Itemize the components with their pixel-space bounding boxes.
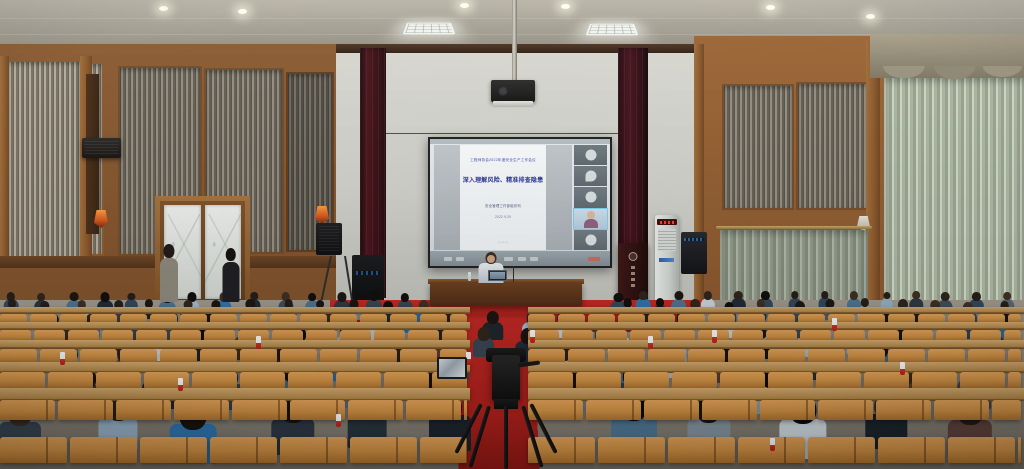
ceiling-downlight [159,6,168,11]
bench-seat [140,437,207,463]
bench-seat [720,372,765,388]
bench-seat [400,349,437,362]
water-bottle [712,330,717,343]
avatar [585,192,596,203]
bench-seat [232,400,287,420]
bench-seat [528,349,565,362]
audience-head [912,291,920,299]
bench-seat [928,349,965,362]
bench-seat [350,437,417,463]
bench-seat [58,400,113,420]
audience-head [128,293,135,301]
bench-seat [384,372,429,388]
water-bottle [60,352,65,365]
bench-seat [464,400,467,420]
bench-seat [0,437,67,463]
ac-grille [658,229,676,251]
participant-tile-strip[interactable] [574,145,607,250]
bench-seat [192,372,237,388]
audience-head [791,291,798,299]
ceiling-grid-light [403,23,456,35]
video-camera [492,355,520,401]
bench-seat [598,437,665,463]
bench-seat [116,400,171,420]
bench-seat [120,349,157,362]
bench-seat [174,400,229,420]
bench-seat [672,372,717,388]
bench-seat [1018,437,1021,463]
bench-seat [280,349,317,362]
water-bottle [336,414,341,427]
bench-seat [200,349,237,362]
ceiling-downlight [460,3,469,8]
bench-seat [40,349,77,362]
bench-seat [160,349,197,362]
chat-button[interactable] [530,257,538,261]
microphone-stand [513,266,514,282]
desk [528,388,1024,399]
bench-seat [876,400,931,420]
bench-seat [70,437,137,463]
slide-side-band [546,145,572,250]
bench-seat [0,372,45,388]
camera-field-monitor [437,357,467,379]
standing-attendee-body [160,258,178,301]
ceiling-downlight [561,4,570,9]
bench-seat [528,372,573,388]
bench-seat [848,349,885,362]
bench-seat [360,349,397,362]
audience-member [880,292,893,308]
water-bottle [648,336,653,349]
desk [0,362,470,371]
audience-head [100,292,109,302]
audience-head [734,291,742,300]
audience-head [656,298,664,307]
shared-slide-area: 工程师协会2022年度安全生产工作会议 深入理解风险、精准排查隐患 安全管理工作… [434,145,572,250]
water-bottle [468,272,471,281]
bench-seat [320,349,357,362]
bench-seat [728,349,765,362]
wall-speaker [82,138,121,158]
bench-seat [1008,349,1021,362]
head-table [430,282,582,306]
bench-seat [888,349,925,362]
avatar [587,211,595,219]
water-bottle [530,330,535,343]
audience-head [972,292,980,301]
bench-seat [1008,372,1021,388]
ceiling-grid-light [586,24,639,36]
participant-tile[interactable] [574,187,607,207]
bench-seat [644,400,699,420]
participant-tile[interactable] [574,145,607,165]
desk [528,362,1024,371]
bench-seat [608,349,645,362]
bench-seat [648,349,685,362]
share-button[interactable] [504,257,513,261]
slide-header: 工程师协会2022年度安全生产工作会议 [462,158,544,163]
acoustic-panel [8,62,80,258]
bench-seat [348,400,403,420]
tripod-leg [504,406,508,469]
bench-seat [624,372,669,388]
bench-seat [0,400,55,420]
meeting-toolbar[interactable] [430,251,610,266]
bench-seat [688,349,725,362]
wall-wood-column [0,56,9,266]
projector-lens-icon [498,86,508,96]
leave-button[interactable] [588,257,600,261]
desk [0,388,470,399]
bench-seat [336,372,381,388]
bench-seat [934,400,989,420]
water-bottle [900,362,905,375]
bench-seat [702,400,757,420]
slide-side-band [434,145,460,250]
curtain-rod [716,226,872,229]
bench-seat [878,437,945,463]
standing-attendee-body [222,262,239,303]
bench-seat [760,400,815,420]
bench-seat [912,372,957,388]
slide-date: 2022.9.29 [462,215,544,219]
bench-seat [210,437,277,463]
bench-seat [808,437,875,463]
desk [0,340,470,347]
bench-seat [568,349,605,362]
desk [528,340,1024,347]
standing-attendee [160,244,178,305]
lectern-emblem-icon [629,252,638,261]
amplifier-rack [681,232,707,274]
avatar [585,234,596,245]
bench-seat [960,372,1005,388]
bench-seat [406,400,461,420]
standing-attendee-head [163,244,174,258]
bench-seat [818,400,873,420]
bench-seat [240,349,277,362]
bench-seat [668,437,735,463]
bench-seat [576,372,621,388]
acoustic-panel [798,84,868,208]
ceiling-downlight [238,9,247,14]
curtain-valance [870,34,1024,78]
bench-seat [586,400,641,420]
acoustic-panel [724,86,792,208]
lectern-vertical-text [631,266,635,290]
mute-button[interactable] [444,257,452,261]
audience-head [477,327,490,341]
ceiling-downlight [866,14,875,19]
projector-mount-pole [512,0,517,86]
bench-seat [240,372,285,388]
standing-attendee-head [225,248,236,261]
bench-seat [280,437,347,463]
bench-seat [80,349,117,362]
audience-head [704,291,712,300]
bench-seat [948,437,1015,463]
audience-head [1003,292,1011,300]
participant-tile-active[interactable] [574,209,607,229]
water-bottle [832,318,837,331]
participant-tile[interactable] [574,230,607,250]
water-bottle [178,378,183,391]
bench-seat [768,372,813,388]
standing-attendee [222,248,239,306]
avatar [585,149,596,160]
bench-seat [816,372,861,388]
avatar [585,170,596,181]
floor-loudspeaker [316,223,342,255]
slide-footer: • • • • • • [462,241,544,244]
presenter-face [487,255,495,263]
participant-tile[interactable] [574,166,607,186]
projection-screen: 工程师协会2022年度安全生产工作会议 深入理解风险、精准排查隐患 安全管理工作… [428,137,612,268]
video-button[interactable] [456,257,464,261]
ac-display [657,219,677,225]
ceiling-downlight [766,5,775,10]
bench-seat [968,349,1005,362]
participants-button[interactable] [518,257,526,261]
bench-seat [768,349,805,362]
bench-seat [808,349,845,362]
conference-hall-photo: 工程师协会2022年度安全生产工作会议 深入理解风险、精准排查隐患 安全管理工作… [0,0,1024,469]
water-bottle [256,336,261,349]
slide-title: 深入理解风险、精准排查隐患 [462,175,544,184]
ac-brand-logo [659,258,674,262]
audience-head [674,291,683,301]
audience-head [370,291,379,301]
bench-seat [288,372,333,388]
audience-head [883,292,890,300]
bench-seat [0,349,37,362]
meeting-window-titlebar [430,139,610,144]
audience-head [401,293,409,302]
water-bottle [770,438,775,451]
slide-organization: 安全管理工作部组织科 [462,203,544,208]
bench-seat [992,400,1021,420]
presenter-laptop [488,270,507,281]
ceiling-projector [491,80,535,102]
ceiling-cable [386,133,622,134]
bench-seat [48,372,93,388]
bench-seat [96,372,141,388]
